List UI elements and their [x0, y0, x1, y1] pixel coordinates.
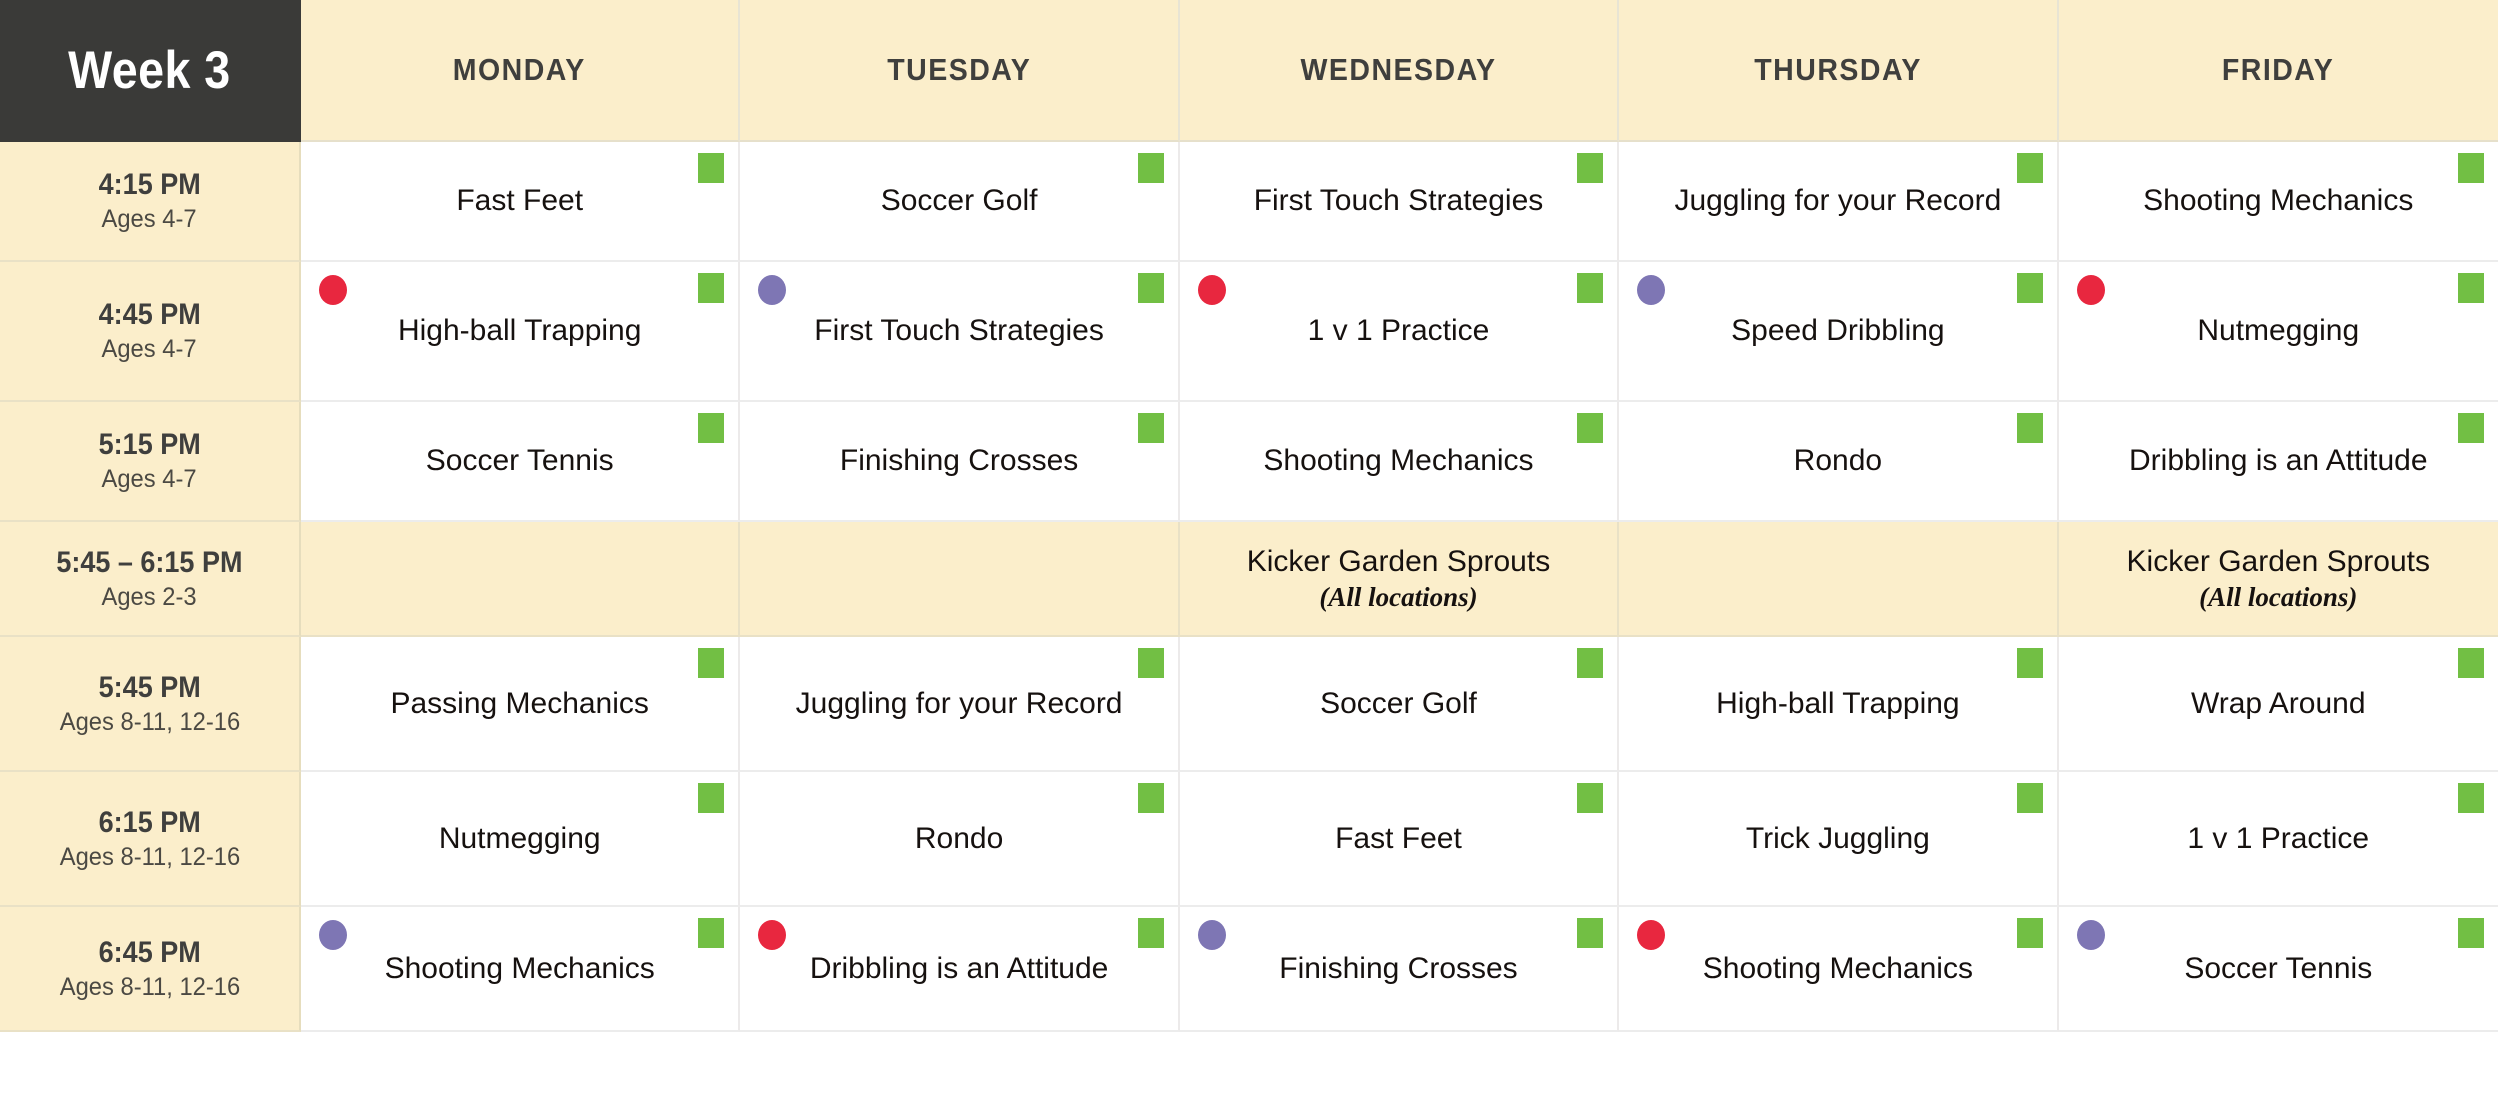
green-square-icon	[2017, 648, 2043, 678]
green-square-icon	[698, 413, 724, 443]
purple-dot-icon	[2077, 920, 2105, 950]
time-slot-label: 5:45 PM	[98, 670, 200, 705]
class-session-cell[interactable]: Shooting Mechanics	[1619, 907, 2058, 1032]
class-session-cell[interactable]: Passing Mechanics	[301, 637, 740, 772]
class-session-cell[interactable]: Finishing Crosses	[1180, 907, 1619, 1032]
class-name: Speed Dribbling	[1721, 313, 1954, 349]
green-square-icon	[1138, 153, 1164, 183]
class-session-cell[interactable]: Soccer Golf	[740, 142, 1179, 262]
class-name: Rondo	[1784, 443, 1892, 479]
class-name: Shooting Mechanics	[2133, 183, 2423, 219]
sprouts-program-name: Kicker Garden Sprouts	[2127, 544, 2430, 579]
class-session-cell[interactable]: Trick Juggling	[1619, 772, 2058, 907]
green-square-icon	[1138, 648, 1164, 678]
weekly-schedule-table: Week 3 MONDAY TUESDAY WEDNESDAY THURSDAY…	[0, 0, 2498, 1094]
class-name: Juggling for your Record	[1664, 183, 2011, 219]
red-dot-icon	[2077, 275, 2105, 305]
class-name: Juggling for your Record	[786, 686, 1133, 722]
class-session-cell[interactable]: Rondo	[740, 772, 1179, 907]
time-slot-cell: 5:15 PMAges 4-7	[0, 402, 301, 522]
green-square-icon	[2458, 783, 2484, 813]
class-name: Nutmegging	[429, 821, 611, 857]
class-session-cell[interactable]: Fast Feet	[1180, 772, 1619, 907]
green-square-icon	[1577, 648, 1603, 678]
class-name: Soccer Golf	[871, 183, 1048, 219]
class-session-cell[interactable]: Soccer Golf	[1180, 637, 1619, 772]
class-name: Dribbling is an Attitude	[800, 951, 1119, 987]
green-square-icon	[1138, 413, 1164, 443]
class-name: Passing Mechanics	[380, 686, 658, 722]
week-title-cell: Week 3	[0, 0, 301, 142]
class-session-cell[interactable]: Shooting Mechanics	[301, 907, 740, 1032]
day-header-wednesday: WEDNESDAY	[1180, 0, 1619, 142]
green-square-icon	[2017, 273, 2043, 303]
class-session-cell[interactable]: Soccer Tennis	[2059, 907, 2498, 1032]
class-session-cell[interactable]: Rondo	[1619, 402, 2058, 522]
class-name: Finishing Crosses	[830, 443, 1088, 479]
class-name: 1 v 1 Practice	[1298, 313, 1500, 349]
time-slot-cell: 6:15 PMAges 8-11, 12-16	[0, 772, 301, 907]
time-slot-cell: 5:45 PMAges 8-11, 12-16	[0, 637, 301, 772]
green-square-icon	[1138, 918, 1164, 948]
time-slot-cell: 6:45 PMAges 8-11, 12-16	[0, 907, 301, 1032]
green-square-icon	[2017, 783, 2043, 813]
class-name: Trick Juggling	[1736, 821, 1940, 857]
purple-dot-icon	[758, 275, 786, 305]
day-header-label: THURSDAY	[1754, 52, 1922, 88]
class-name: Shooting Mechanics	[1693, 951, 1983, 987]
class-session-cell[interactable]: First Touch Strategies	[1180, 142, 1619, 262]
class-session-cell[interactable]: Dribbling is an Attitude	[740, 907, 1179, 1032]
sprouts-session-cell[interactable]: Kicker Garden Sprouts(All locations)	[2059, 522, 2498, 637]
class-name: Fast Feet	[446, 183, 593, 219]
class-name: High-ball Trapping	[1706, 686, 1969, 722]
class-session-cell[interactable]: Shooting Mechanics	[2059, 142, 2498, 262]
green-square-icon	[2458, 153, 2484, 183]
class-session-cell[interactable]: Dribbling is an Attitude	[2059, 402, 2498, 522]
day-header-label: MONDAY	[453, 52, 586, 88]
class-session-cell[interactable]: 1 v 1 Practice	[1180, 262, 1619, 402]
green-square-icon	[1577, 153, 1603, 183]
class-name: Fast Feet	[1325, 821, 1472, 857]
sprouts-location-note: (All locations)	[1319, 582, 1477, 613]
red-dot-icon	[758, 920, 786, 950]
sprouts-session-cell[interactable]: Kicker Garden Sprouts(All locations)	[1180, 522, 1619, 637]
day-header-label: WEDNESDAY	[1300, 52, 1496, 88]
class-session-cell[interactable]: Soccer Tennis	[301, 402, 740, 522]
green-square-icon	[1577, 918, 1603, 948]
class-session-cell[interactable]: Nutmegging	[2059, 262, 2498, 402]
age-group-label: Ages 2-3	[102, 583, 197, 613]
purple-dot-icon	[1198, 920, 1226, 950]
time-slot-cell: 4:45 PMAges 4-7	[0, 262, 301, 402]
class-session-cell[interactable]: 1 v 1 Practice	[2059, 772, 2498, 907]
green-square-icon	[698, 648, 724, 678]
sprouts-session-cell[interactable]	[1619, 522, 2058, 637]
green-square-icon	[1138, 783, 1164, 813]
day-header-tuesday: TUESDAY	[740, 0, 1179, 142]
time-slot-cell: 4:15 PMAges 4-7	[0, 142, 301, 262]
class-session-cell[interactable]: Speed Dribbling	[1619, 262, 2058, 402]
class-name: Soccer Tennis	[416, 443, 624, 479]
class-session-cell[interactable]: Shooting Mechanics	[1180, 402, 1619, 522]
age-group-label: Ages 8-11, 12-16	[59, 843, 239, 873]
class-name: Soccer Tennis	[2174, 951, 2382, 987]
day-header-friday: FRIDAY	[2059, 0, 2498, 142]
class-name: Wrap Around	[2181, 686, 2376, 722]
time-slot-label: 6:15 PM	[98, 805, 200, 840]
purple-dot-icon	[319, 920, 347, 950]
green-square-icon	[2458, 273, 2484, 303]
class-session-cell[interactable]: Juggling for your Record	[740, 637, 1179, 772]
sprouts-session-cell[interactable]	[301, 522, 740, 637]
class-name: Shooting Mechanics	[1253, 443, 1543, 479]
class-session-cell[interactable]: First Touch Strategies	[740, 262, 1179, 402]
age-group-label: Ages 4-7	[102, 335, 197, 365]
class-name: Finishing Crosses	[1269, 951, 1527, 987]
day-header-label: FRIDAY	[2222, 52, 2334, 88]
red-dot-icon	[1198, 275, 1226, 305]
green-square-icon	[2017, 918, 2043, 948]
page-title: Week 3	[68, 40, 231, 101]
time-slot-label: 5:15 PM	[98, 427, 200, 462]
green-square-icon	[2458, 413, 2484, 443]
class-name: High-ball Trapping	[388, 313, 651, 349]
class-session-cell[interactable]: Juggling for your Record	[1619, 142, 2058, 262]
class-session-cell[interactable]: Fast Feet	[301, 142, 740, 262]
time-slot-label: 6:45 PM	[98, 935, 200, 970]
age-group-label: Ages 4-7	[102, 465, 197, 495]
day-header-monday: MONDAY	[301, 0, 740, 142]
green-square-icon	[698, 153, 724, 183]
day-header-thursday: THURSDAY	[1619, 0, 2058, 142]
class-name: 1 v 1 Practice	[2177, 821, 2379, 857]
time-slot-label: 4:45 PM	[98, 297, 200, 332]
day-header-label: TUESDAY	[887, 52, 1031, 88]
green-square-icon	[2017, 413, 2043, 443]
class-name: First Touch Strategies	[1244, 183, 1554, 219]
purple-dot-icon	[1637, 275, 1665, 305]
green-square-icon	[698, 783, 724, 813]
green-square-icon	[698, 273, 724, 303]
green-square-icon	[2458, 648, 2484, 678]
time-slot-label: 5:45 – 6:15 PM	[56, 545, 242, 580]
red-dot-icon	[319, 275, 347, 305]
class-name: Nutmegging	[2187, 313, 2369, 349]
green-square-icon	[698, 918, 724, 948]
sprouts-session-cell[interactable]	[740, 522, 1179, 637]
class-session-cell[interactable]: Finishing Crosses	[740, 402, 1179, 522]
class-name: Soccer Golf	[1310, 686, 1487, 722]
class-name: Rondo	[905, 821, 1013, 857]
green-square-icon	[1577, 413, 1603, 443]
green-square-icon	[1138, 273, 1164, 303]
class-name: Dribbling is an Attitude	[2119, 443, 2438, 479]
sprouts-program-name: Kicker Garden Sprouts	[1247, 544, 1550, 579]
sprouts-location-note: (All locations)	[2199, 582, 2357, 613]
green-square-icon	[2017, 153, 2043, 183]
age-group-label: Ages 4-7	[102, 205, 197, 235]
class-session-cell[interactable]: High-ball Trapping	[301, 262, 740, 402]
green-square-icon	[2458, 918, 2484, 948]
class-session-cell[interactable]: Wrap Around	[2059, 637, 2498, 772]
time-slot-cell: 5:45 – 6:15 PMAges 2-3	[0, 522, 301, 637]
age-group-label: Ages 8-11, 12-16	[59, 973, 239, 1003]
class-name: Shooting Mechanics	[375, 951, 665, 987]
red-dot-icon	[1637, 920, 1665, 950]
class-session-cell[interactable]: High-ball Trapping	[1619, 637, 2058, 772]
age-group-label: Ages 8-11, 12-16	[59, 708, 239, 738]
green-square-icon	[1577, 783, 1603, 813]
class-name: First Touch Strategies	[804, 313, 1114, 349]
time-slot-label: 4:15 PM	[98, 167, 200, 202]
class-session-cell[interactable]: Nutmegging	[301, 772, 740, 907]
green-square-icon	[1577, 273, 1603, 303]
